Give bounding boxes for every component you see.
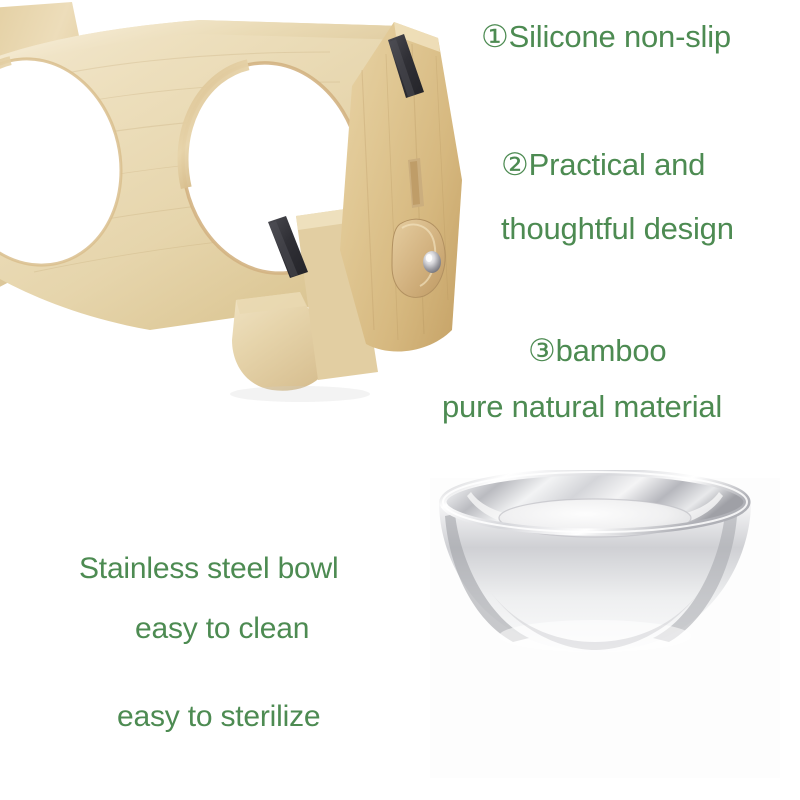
stainless-steel-bowl-image [425,470,765,720]
feature-line-pure-natural-material: pure natural material [442,389,722,425]
bowl-callout-line-easy-to-clean: easy to clean [135,612,309,646]
bowl-callout-line-stainless-steel-bowl: Stainless steel bowl [79,552,338,586]
stand-height-adjust-knob [392,219,445,297]
feature-line-practical-and: ②Practical and [501,147,705,183]
feature-line-bamboo: ③bamboo [528,333,666,369]
bowl-callout-line-easy-to-sterilize: easy to sterilize [117,700,320,734]
feature-line-silicone-non-slip: ①Silicone non-slip [481,19,731,55]
product-infographic-page: ①Silicone non-slip ②Practical and though… [0,0,800,800]
stand-contact-shadow [230,386,370,402]
knob-metal-screw [423,251,441,273]
feature-line-thoughtful-design: thoughtful design [501,211,734,247]
bamboo-stand-image [0,0,470,415]
